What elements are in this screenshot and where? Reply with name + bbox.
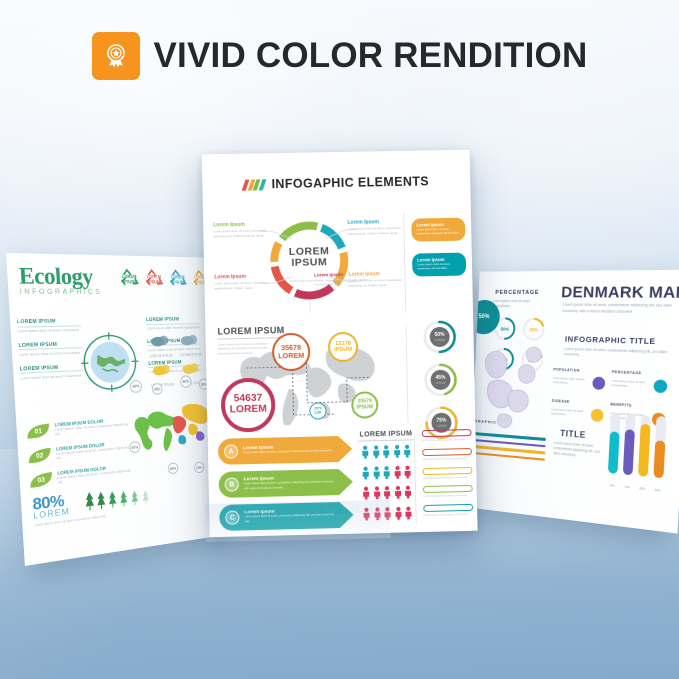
bar-chart-tick: 75% [622, 485, 632, 489]
weather-item: LOREM IPSUM [145, 333, 176, 359]
ecology-callout-title: LOREM IPSUM [18, 340, 82, 347]
denmark-map-poster[interactable]: DENMARK MAP Lorem ipsum dolor sit amet, … [468, 270, 679, 534]
caption-pill[interactable] [423, 485, 473, 493]
map-marker-label: IPSUM [357, 405, 373, 411]
ecology-callout-desc: Lorem ipsum dolor sit amet consectetur [17, 328, 81, 335]
donut-bottom-caption-desc: Lorem ipsum dolor sit amet, consectetur … [289, 277, 369, 287]
percentage-bubble: 30% [194, 461, 205, 473]
caption-pill[interactable] [422, 466, 472, 474]
bar-chart-fill [638, 424, 651, 477]
bar-chart-fill [608, 431, 620, 474]
denmark-left-bars [471, 432, 546, 465]
poster-header: INFOGAPHIC ELEMENTS [202, 174, 470, 193]
ecology-callout-desc: Lorem ipsum dolor sit amet consectetur [146, 325, 199, 331]
leaf-number: 03 [28, 471, 53, 490]
section-map: LOREM IPSUM Lorem ipsum dolor sit amet, … [205, 315, 475, 433]
infographic-elements-poster[interactable]: INFOGAPHIC ELEMENTS [202, 150, 478, 538]
donut-callout-desc: Lorem ipsum dolor sit amet, consectetur … [348, 226, 404, 236]
pine-tree-icon [96, 490, 107, 517]
pine-tree-icon [107, 490, 118, 516]
ecology-leaf-item: 03LOREM IPSUM DOLORLorem ipsum dolor sit… [28, 463, 131, 490]
infographic-heading: INFOGRAPHIC TITLE [565, 334, 656, 346]
leaf-text: LOREM IPSUM DOLORLorem ipsum dolor sit a… [54, 417, 128, 438]
bar-chart-fill [623, 429, 635, 475]
person-icon [403, 465, 411, 483]
percentage-bubble: 30% [152, 383, 163, 395]
person-icon [404, 506, 412, 524]
denmark-item-desc: Lorem ipsum dolor sit amet consectetuer. [611, 379, 650, 390]
denmark-subtitle: Lorem ipsum dolor sit amet, consectetuer… [562, 303, 674, 317]
person-icon [404, 485, 412, 503]
leaf-number: 01 [25, 422, 50, 441]
donut-bottom-caption: Lorem Ipsum Lorem ipsum dolor sit amet, … [288, 271, 368, 287]
ecology-callout-title: LOREM IPSUM [17, 318, 81, 325]
caption-item: Lorem ipsum dolor sit amet, consectetur [422, 466, 472, 480]
bar-chart-tube [608, 413, 621, 474]
people-row [359, 485, 415, 504]
award-ribbon-icon [92, 32, 140, 80]
denmark-item-desc: Lorem ipsum dolor sit amet consectetuer. [551, 408, 588, 419]
person-icon [373, 507, 381, 525]
denmark-item-dot [591, 408, 604, 422]
donut-callout-title: Lorem Ipsum [214, 273, 270, 280]
arrow-banner-group: ALorem IpsumLorem ipsum dolor sit amet, … [218, 436, 354, 537]
pine-tree-icon [130, 489, 140, 512]
pill-card-desc: Lorem ipsum dolor sit amet, consectetur … [417, 263, 461, 272]
denmark-title: DENMARK MAP [561, 283, 679, 302]
percentage-bubble: 50% [130, 380, 143, 393]
ecology-leaf-item: 01LOREM IPSUM DOLORLorem ipsum dolor sit… [25, 417, 128, 441]
arrow-banner[interactable]: ALorem IpsumLorem ipsum dolor sit amet, … [218, 436, 353, 465]
person-icon [362, 507, 370, 525]
bar-chart-tube [623, 414, 636, 476]
ecology-callout-title: LOREM IPSUM [146, 316, 199, 322]
map-marker-label: LOR [315, 411, 322, 415]
infographic-desc: Lorem ipsum dolor sit amet, consectetuer… [564, 347, 669, 362]
ecology-title-block: Ecology INFOGRAPHICS [18, 262, 102, 296]
arrow-banner-text: Lorem IpsumLorem ipsum dolor sit amet, c… [244, 476, 334, 491]
ecology-infographics-poster[interactable]: Ecology INFOGRAPHICS LOREMIPSUM LOREMIPS… [6, 253, 223, 566]
bar-chart-tube [653, 416, 666, 479]
pill-card[interactable]: Lorem IpsumLorem ipsum dolor sit amet, c… [411, 218, 465, 242]
percent-ring-label: IPSUM [436, 381, 446, 385]
pine-tree-icon [119, 490, 129, 514]
person-icon [393, 486, 401, 504]
bar-chart-tick: 70% [607, 484, 617, 488]
caption-pill[interactable] [422, 448, 472, 456]
caption-desc: Lorem ipsum dolor sit amet, consectetur [422, 438, 472, 443]
section-donut: LOREM IPSUM Lorem IpsumLorem ipsum dolor… [203, 202, 473, 323]
leaf-text: LOREM IPSUM DOLORLorem ipsum dolor sit a… [56, 440, 130, 462]
denmark-item: PERCENTAGELorem ipsum dolor sit amet con… [611, 370, 675, 397]
map-heading-rule [218, 337, 284, 339]
donut-callout-title: Lorem Ipsum [347, 219, 403, 226]
ecology-leaf-item: 02LOREM IPSUM DOLORLorem ipsum dolor sit… [27, 440, 130, 466]
bar-chart-tick: 60% [653, 489, 663, 493]
person-icon [393, 445, 401, 463]
denmark-item: DISEASELorem ipsum dolor sit amet consec… [551, 399, 611, 426]
ecology-leaf-list: 01LOREM IPSUM DOLORLorem ipsum dolor sit… [25, 417, 131, 498]
ecology-title: Ecology [18, 262, 102, 290]
poster-title: INFOGAPHIC ELEMENTS [271, 174, 429, 191]
ecology-callout: LOREM IPSUMLorem ipsum dolor sit amet co… [17, 318, 82, 334]
percentage-bubble: 60% [180, 375, 192, 388]
donut-center-label: LOREM IPSUM [280, 246, 338, 269]
ecology-callout: LOREM IPSUMLorem ipsum dolor sit amet co… [18, 340, 83, 357]
arrow-banner-tip [338, 436, 353, 462]
map-marker-label: LOREM [230, 405, 267, 417]
percentage-bubble: 40% [129, 441, 141, 454]
donut-chart-zone: LOREM IPSUM Lorem IpsumLorem ipsum dolor… [213, 207, 405, 323]
donut-callout: Lorem IpsumLorem ipsum dolor sit amet, c… [214, 273, 271, 290]
caption-item: Lorem ipsum dolor sit amet, consectetur [423, 504, 473, 518]
weather-item: LOREM IPSUM [175, 332, 205, 357]
pine-tree-icon [84, 490, 95, 518]
pill-card[interactable]: Lorem IpsumLorem ipsum dolor sit amet, c… [412, 253, 466, 277]
banner-title: VIVID COLOR RENDITION [154, 36, 588, 76]
ecology-callout-desc: Lorem ipsum dolor sit amet consectetur [20, 373, 84, 381]
caption-desc: Lorem ipsum dolor sit amet, consectetur [423, 494, 473, 499]
caption-item: Lorem ipsum dolor sit amet, consectetur [422, 448, 472, 462]
caption-pill[interactable] [423, 504, 473, 512]
arrow-banner-tip [339, 469, 354, 495]
person-icon [403, 444, 411, 462]
donut-callout-desc: Lorem ipsum dolor sit amet, consectetur … [213, 228, 269, 238]
chart-desc: Lorem ipsum dolor sit amet, consectetuer… [553, 441, 603, 462]
leaf-icon: 01 [25, 422, 50, 441]
recycle-icon: LOREMIPSUM [168, 269, 187, 291]
person-icon [394, 506, 402, 524]
percent-ring: 50%LOREM [422, 320, 457, 355]
ecology-callout: LOREM IPSUMLorem ipsum dolor sit amet co… [20, 363, 84, 381]
percent-ring: 45%IPSUM [423, 363, 458, 398]
denmark-item-row: Lorem ipsum dolor sit amet consectetuer. [552, 372, 612, 394]
pill-card-title: Lorem Ipsum [416, 222, 460, 228]
person-icon [372, 466, 380, 484]
header-banner: VIVID COLOR RENDITION [0, 32, 679, 80]
leaf-icon: 02 [27, 447, 52, 466]
slash-stripes-icon [244, 179, 265, 190]
map-marker-label: LOREM [278, 352, 304, 360]
leaf-number: 02 [27, 447, 52, 466]
pine-tree-icon [141, 489, 151, 511]
percentage-desc: Lorem ipsum dolor sit amet consectetuer. [493, 299, 543, 310]
person-icon [382, 445, 390, 463]
person-icon [383, 465, 391, 483]
ecology-callout-desc: Lorem ipsum dolor sit amet consectetur [19, 350, 83, 358]
bar-chart-tick: 85% [637, 487, 647, 491]
caption-desc: Lorem ipsum dolor sit amet, consectetur [423, 513, 473, 518]
caption-pill-group: Lorem ipsum dolor sit amet, consecteturL… [422, 429, 474, 524]
section-divider [406, 327, 409, 423]
caption-item: Lorem ipsum dolor sit amet, consectetur [422, 429, 472, 443]
person-icon [383, 506, 391, 524]
people-row [359, 465, 415, 484]
weather-caption: LOREM IPSUM [176, 352, 205, 357]
caption-desc: Lorem ipsum dolor sit amet, consectetur [422, 457, 472, 462]
weather-caption: LOREM IPSUM [146, 353, 176, 358]
person-icon [393, 465, 401, 483]
denmark-big-badge-value: 50% [478, 314, 489, 320]
percent-ring-label: LOREM [434, 338, 445, 342]
percentage-bubble: 60% [168, 462, 179, 474]
bar-chart-fill [653, 441, 665, 479]
caption-pill[interactable] [422, 429, 472, 437]
person-icon [362, 466, 370, 484]
people-heading: LOREM IPSUM [358, 430, 414, 438]
person-icon [372, 486, 380, 504]
donut-callout-desc: Lorem ipsum dolor sit amet, consectetur … [214, 280, 270, 290]
recycle-badge-row: LOREMIPSUM LOREMIPSUM LOREMIPSUM LOREMIP… [119, 268, 210, 291]
ecology-callout: LOREM IPSUMLorem ipsum dolor sit amet co… [146, 316, 200, 331]
recycle-icon: LOREMIPSUM [144, 269, 164, 291]
section-arrows: ALorem IpsumLorem ipsum dolor sit amet, … [207, 423, 477, 535]
denmark-item-desc: Lorem ipsum dolor sit amet consectetuer. [553, 376, 590, 386]
map-marker-label: IPSUM [334, 347, 352, 353]
people-pictogram-zone: LOREM IPSUM [358, 430, 416, 527]
recycle-icon: LOREMIPSUM [119, 268, 139, 290]
percentage-heading: PERCENTAGE [495, 290, 539, 296]
donut-callout-title: Lorem Ipsum [213, 221, 269, 228]
denmark-item: POPULATIONLorem ipsum dolor sit amet con… [552, 367, 612, 393]
bar-chart [608, 413, 667, 479]
leaf-icon: 03 [28, 471, 53, 490]
donut-callout: Lorem IpsumLorem ipsum dolor sit amet, c… [347, 219, 403, 236]
chart-title: TITLE [560, 429, 586, 440]
arrow-banner[interactable]: CLorem IpsumLorem ipsum dolor sit amet, … [219, 502, 354, 531]
people-row [358, 444, 414, 463]
arrow-banner-tip [339, 502, 354, 528]
people-row [359, 506, 415, 525]
arrow-banner[interactable]: BLorem IpsumLorem ipsum dolor sit amet, … [218, 469, 353, 498]
denmark-item-dot [653, 379, 667, 393]
people-heading-rule [358, 439, 414, 441]
bar-chart-tube [638, 415, 651, 477]
caption-item: Lorem ipsum dolor sit amet, consectetur [423, 485, 473, 499]
donut-center-line2: IPSUM [280, 257, 338, 269]
pill-card-desc: Lorem ipsum dolor sit amet, consectetur … [416, 228, 460, 237]
person-icon [372, 445, 380, 463]
person-icon [383, 486, 391, 504]
denmark-item-dot [592, 376, 605, 389]
bar-chart-tick-labels: 70%75%85%60% [607, 484, 663, 493]
arrow-banner-text: Lorem IpsumLorem ipsum dolor sit amet, c… [244, 509, 334, 524]
denmark-item-row: Lorem ipsum dolor sit amet consectetuer. [551, 403, 610, 426]
donut-callout: Lorem IpsumLorem ipsum dolor sit amet, c… [213, 221, 270, 238]
pill-card-title: Lorem Ipsum [417, 257, 461, 263]
caption-desc: Lorem ipsum dolor sit amet, consectetur [423, 475, 473, 480]
pill-card-group: Lorem IpsumLorem ipsum dolor sit amet, c… [411, 218, 466, 289]
ecology-subtitle: INFOGRAPHICS [20, 288, 103, 296]
denmark-item-row: Lorem ipsum dolor sit amet consectetuer. [611, 374, 675, 397]
leaf-text: LOREM IPSUM DOLORLorem ipsum dolor sit a… [57, 463, 131, 486]
person-icon [361, 445, 369, 463]
person-icon [362, 486, 370, 504]
ecology-left-callouts: LOREM IPSUMLorem ipsum dolor sit amet co… [17, 318, 85, 389]
